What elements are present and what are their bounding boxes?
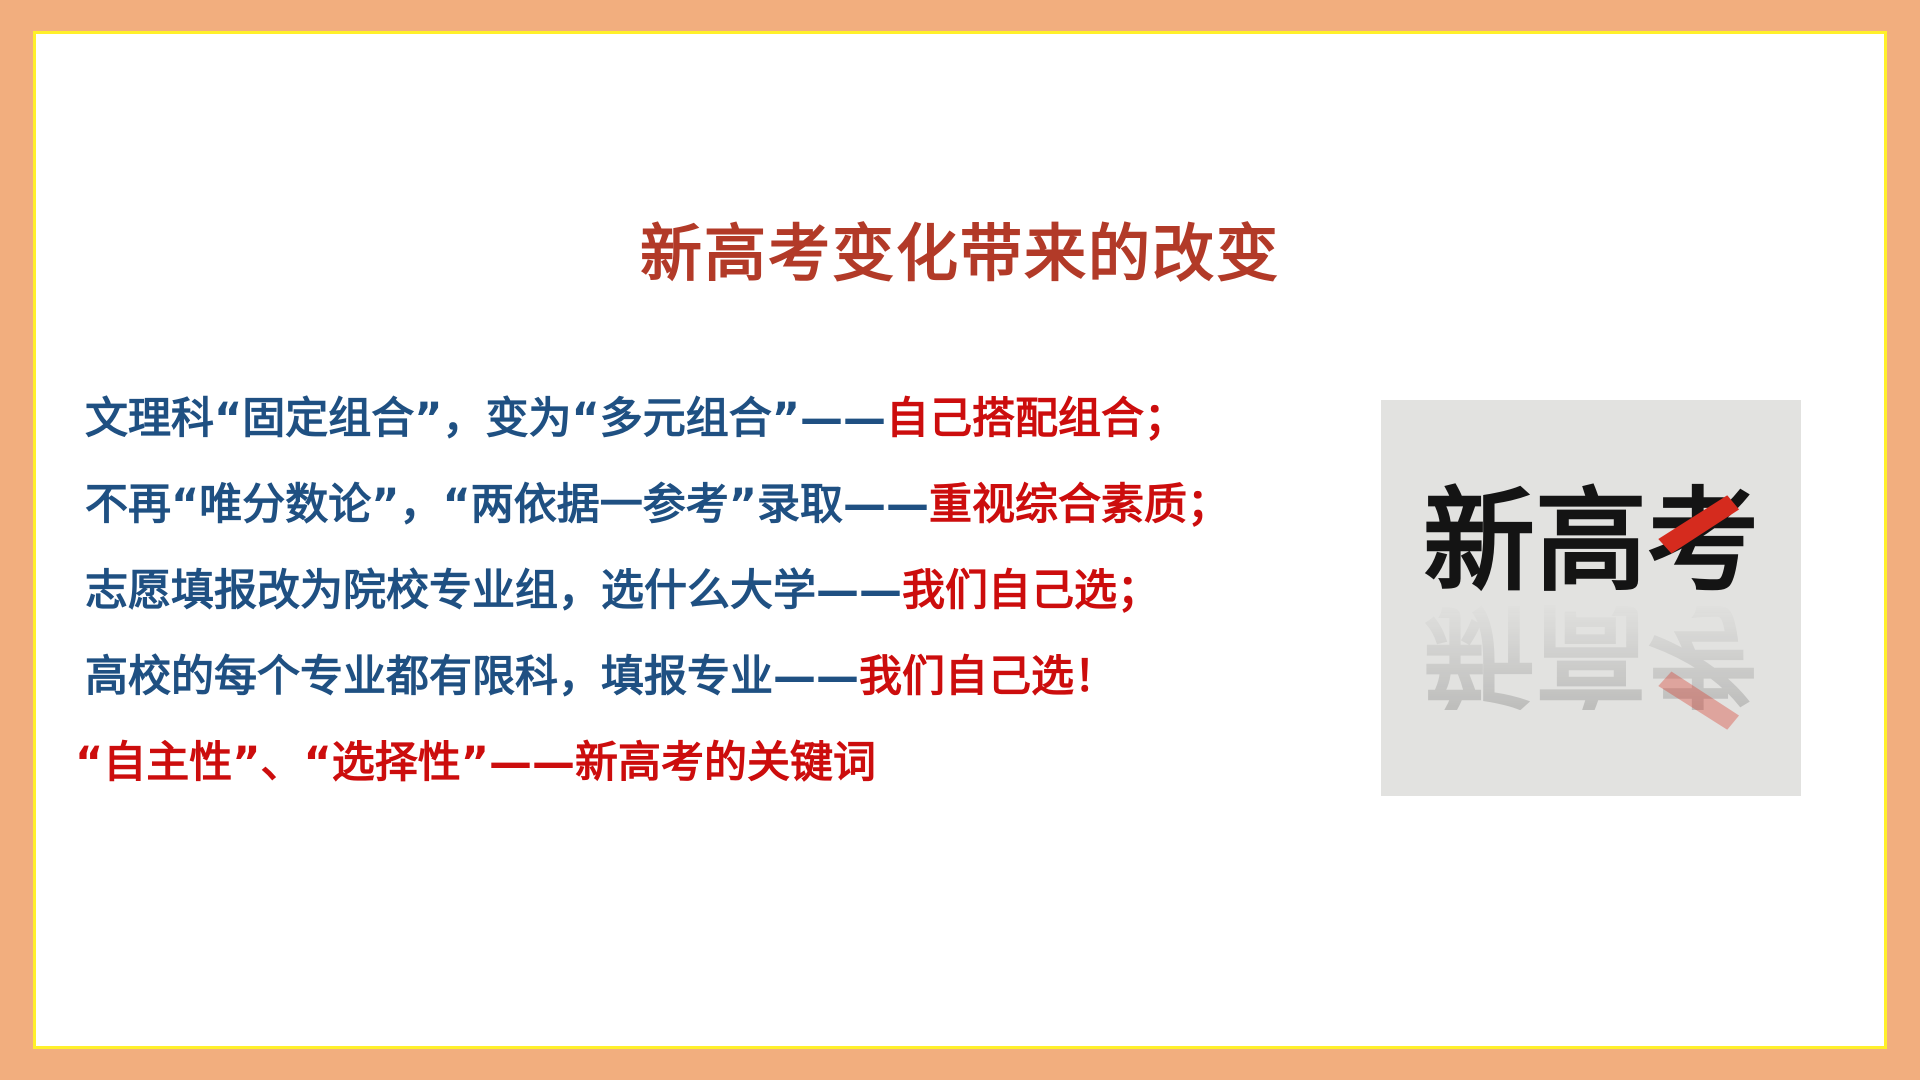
body-line-2: 不再“唯分数论”，“两依据一参考”录取——重视综合素质； [85,484,1345,570]
body-line-3: 志愿填报改为院校专业组，选什么大学——我们自己选； [85,570,1345,656]
body-line-3-blue: 志愿填报改为院校专业组，选什么大学—— [85,566,902,616]
body-line-3-red: 我们自己选； [902,566,1160,616]
slide-canvas: 新高考变化带来的改变 文理科“固定组合”，变为“多元组合”——自己搭配组合； 不… [0,0,1920,1080]
body-text-block: 文理科“固定组合”，变为“多元组合”——自己搭配组合； 不再“唯分数论”，“两依… [85,398,1345,828]
body-line-1-red: 自己搭配组合； [886,394,1187,444]
gaokao-logo-image: 新高考 新高考 [1381,400,1801,796]
body-line-5-red: “自主性”、“选择性”——新高考的关键词 [75,738,876,788]
body-line-2-red: 重视综合素质； [929,480,1230,530]
page-title: 新高考变化带来的改变 [0,218,1920,289]
body-line-4-blue: 高校的每个专业都有限科，填报专业—— [85,652,859,702]
body-line-4-red: 我们自己选！ [859,652,1117,702]
body-line-1-blue: 文理科“固定组合”，变为“多元组合”—— [85,394,886,444]
body-line-4: 高校的每个专业都有限科，填报专业——我们自己选！ [85,656,1345,742]
body-line-5: “自主性”、“选择性”——新高考的关键词 [75,742,1345,828]
gaokao-logo-reflection: 新高考 [1381,598,1801,710]
body-line-2-blue: 不再“唯分数论”，“两依据一参考”录取—— [85,480,929,530]
gaokao-logo-text: 新高考 [1381,486,1801,598]
body-line-1: 文理科“固定组合”，变为“多元组合”——自己搭配组合； [85,398,1345,484]
